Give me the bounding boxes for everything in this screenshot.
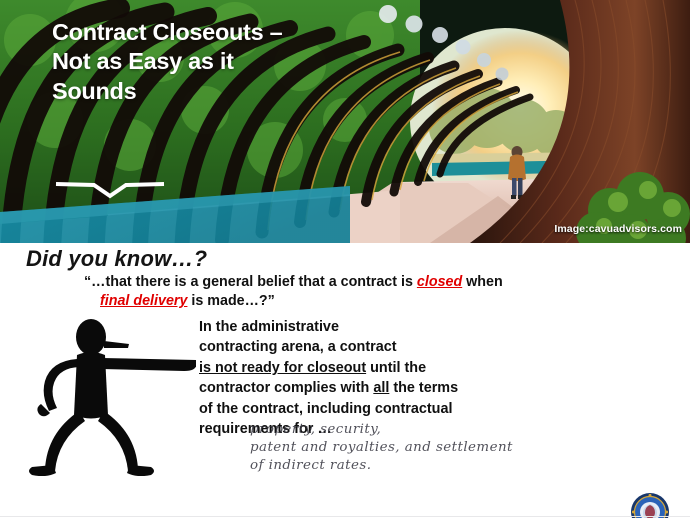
main-text-line4-pre: contractor complies with bbox=[199, 380, 373, 396]
slide-canvas: Contract Closeouts – Not as Easy as it S… bbox=[0, 0, 690, 518]
quote-line2: final delivery is made…?” bbox=[84, 292, 654, 311]
quote-block: “…that there is a general belief that a … bbox=[84, 273, 654, 311]
main-text-line3-post: until the bbox=[366, 360, 426, 376]
main-text-underline-closeout: is not ready for closeout bbox=[199, 360, 366, 376]
chevron-divider-icon bbox=[54, 176, 166, 200]
content-area: Did you know…? “…that there is a general… bbox=[0, 243, 690, 518]
quote-line1-post: when bbox=[462, 274, 503, 290]
agency-seal-icon bbox=[630, 492, 670, 518]
main-text-line1: In the administrative bbox=[199, 319, 339, 335]
quote-highlight-final-delivery: final delivery bbox=[100, 293, 187, 309]
hero-image: Contract Closeouts – Not as Easy as it S… bbox=[0, 0, 690, 243]
main-text-underline-all: all bbox=[373, 380, 389, 396]
did-you-know-heading: Did you know…? bbox=[26, 246, 207, 272]
quote-line2-post: is made…?” bbox=[187, 293, 274, 309]
main-text-line5: of the contract, including contractual bbox=[199, 401, 452, 417]
main-text-line4-post: the terms bbox=[389, 380, 458, 396]
image-credit-label: Image:cavuadvisors.com bbox=[554, 223, 682, 235]
handwritten-note: property, security, patent and royalties… bbox=[250, 421, 650, 475]
footer-divider bbox=[0, 516, 690, 517]
quote-line1-pre: “…that there is a general belief that a … bbox=[84, 274, 417, 290]
quote-highlight-closed: closed bbox=[417, 274, 462, 290]
main-text-line2: contracting arena, a contract bbox=[199, 339, 397, 355]
stick-figure-icon bbox=[24, 311, 204, 476]
page-title: Contract Closeouts – Not as Easy as it S… bbox=[52, 18, 382, 106]
